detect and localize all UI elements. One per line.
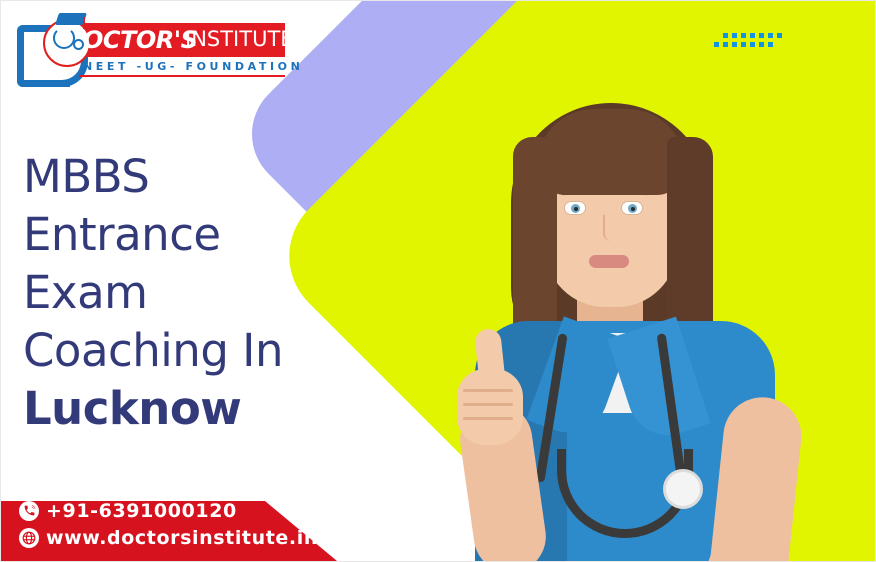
- headline-line-4: Coaching In: [23, 322, 283, 380]
- eye-left: [564, 201, 586, 215]
- dot-grid-icon: [714, 33, 786, 51]
- stethoscope-icon: [53, 27, 75, 49]
- headline-line-2: Entrance: [23, 206, 283, 264]
- headline-line-3: Exam: [23, 264, 283, 322]
- hair-front: [537, 109, 685, 195]
- stethoscope-chestpiece-icon: [663, 469, 703, 509]
- headline-line-5-city: Lucknow: [23, 380, 283, 438]
- logo-underline: [79, 75, 285, 77]
- logo-word-institute: INSTITUTE: [185, 27, 294, 51]
- promotional-banner: OCTOR'S INSTITUTE NEET -UG- FOUNDATION M…: [0, 0, 876, 562]
- logo-subtitle: NEET -UG- FOUNDATION: [83, 60, 303, 73]
- headline-line-1: MBBS: [23, 148, 283, 206]
- globe-icon: [19, 528, 39, 548]
- phone-icon: [19, 501, 39, 521]
- hair-left-strand: [513, 137, 557, 349]
- lips: [589, 255, 629, 268]
- website-url: www.doctorsinstitute.in: [46, 527, 318, 549]
- phone-row[interactable]: +91-6391000120: [19, 497, 318, 524]
- contact-info: +91-6391000120 www.doctorsinstitute.in: [19, 497, 318, 551]
- eye-right: [621, 201, 643, 215]
- nose: [603, 215, 617, 241]
- brand-logo[interactable]: OCTOR'S INSTITUTE NEET -UG- FOUNDATION: [17, 15, 285, 77]
- website-row[interactable]: www.doctorsinstitute.in: [19, 524, 318, 551]
- page-title: MBBS Entrance Exam Coaching In Lucknow: [23, 148, 283, 438]
- phone-number: +91-6391000120: [46, 500, 237, 522]
- logo-word-doctors: OCTOR'S: [83, 26, 197, 54]
- doctor-photo: [431, 97, 831, 562]
